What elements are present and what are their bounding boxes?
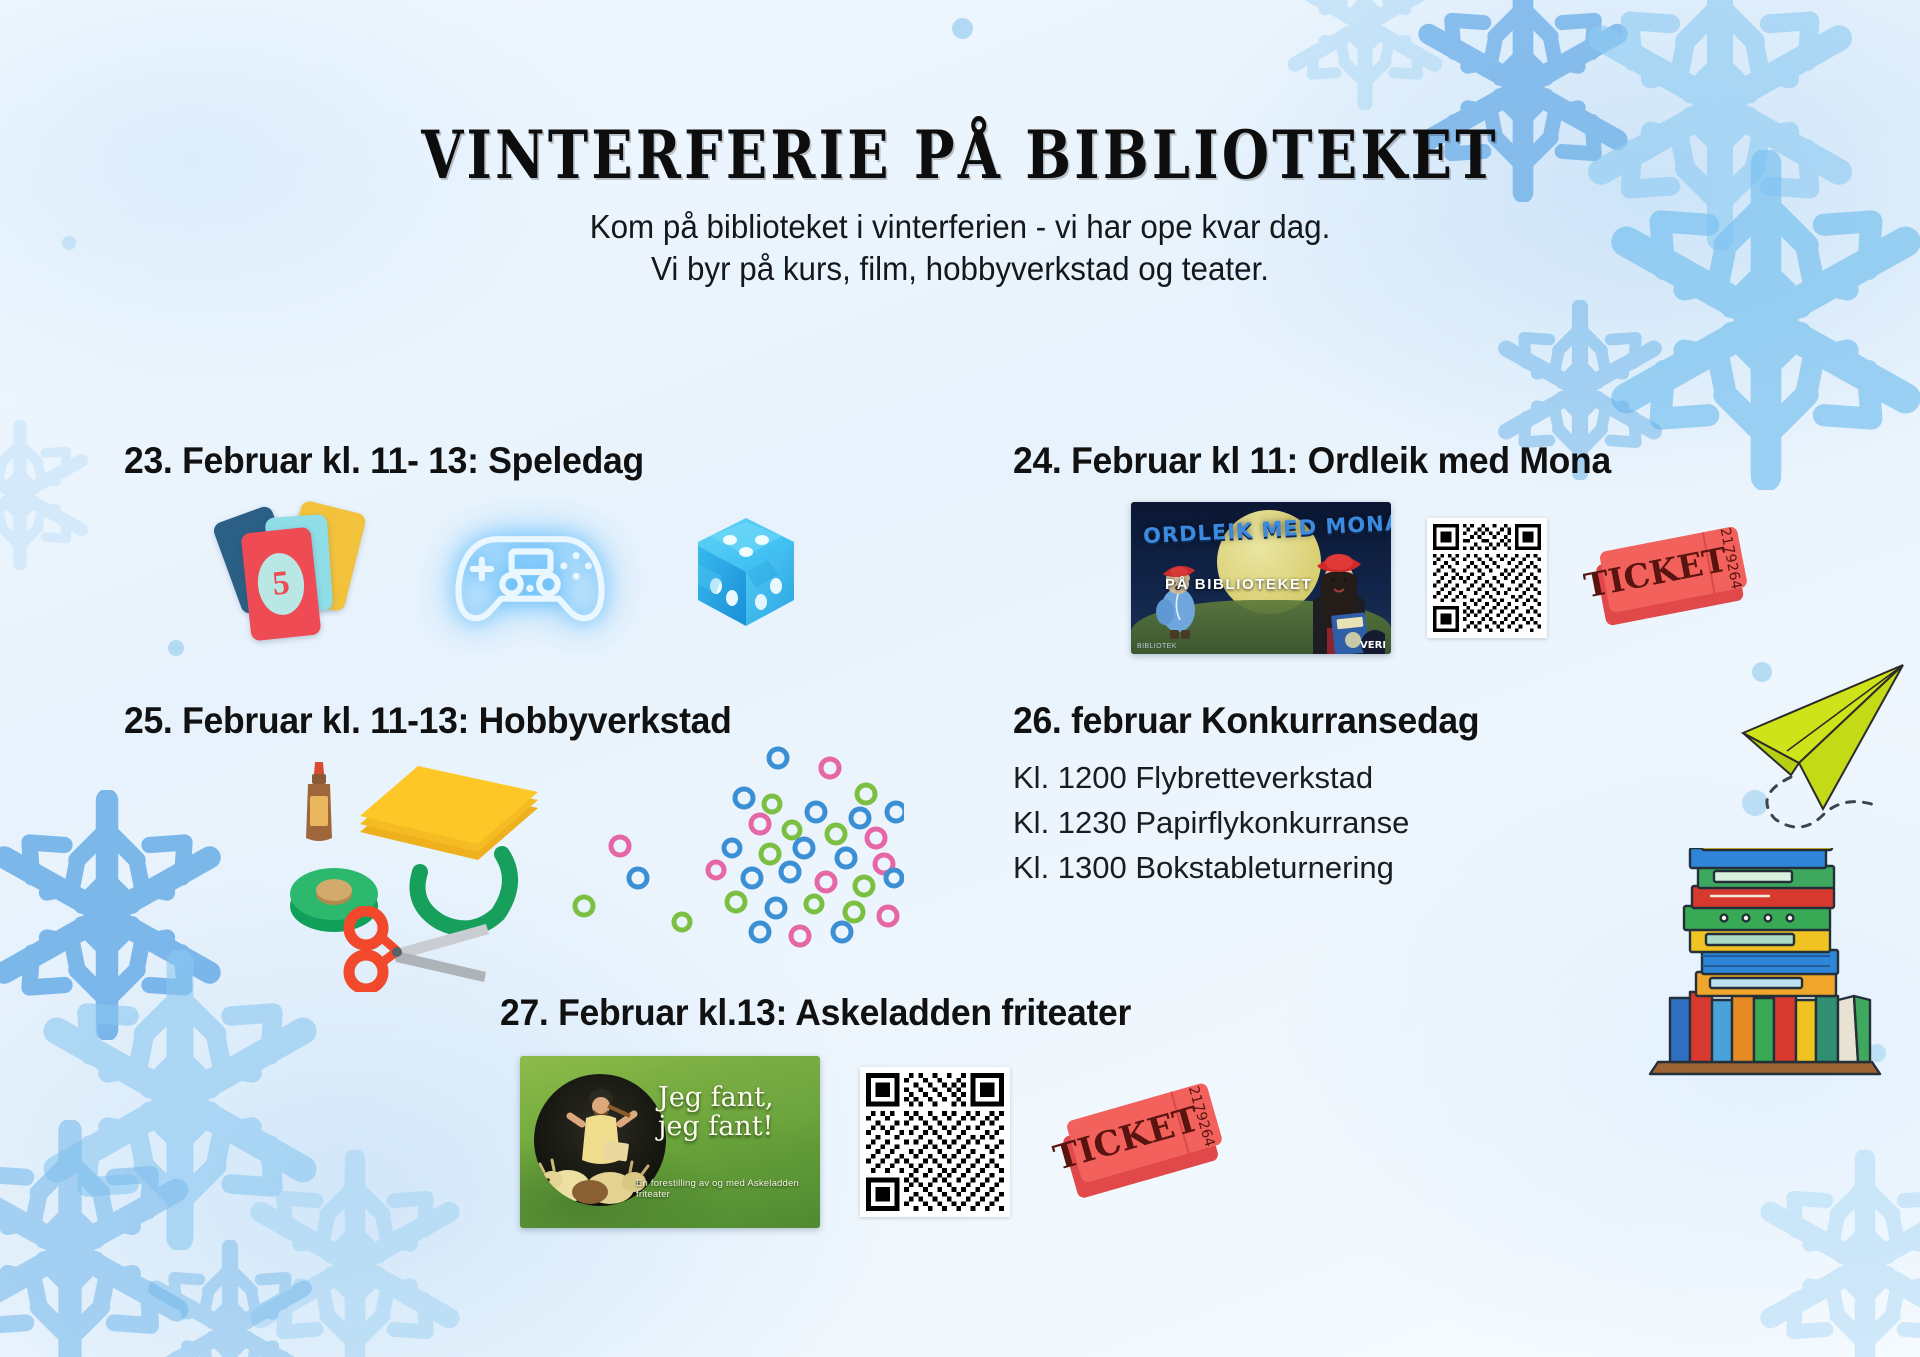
snowflake-icon (0, 420, 95, 570)
snowflake-icon (1280, 0, 1450, 110)
event-konkurransedag: 26. februar Konkurransedag Kl. 1200 Flyb… (1013, 700, 1499, 891)
event-friteater-heading: 27. Februar kl.13: Askeladden friteater (500, 992, 1210, 1034)
event-speledag-heading: 23. Februar kl. 11- 13: Speledag (124, 440, 779, 482)
konkurransedag-schedule: Kl. 1200 Flybretteverkstad Kl. 1230 Papi… (1013, 756, 1499, 891)
schedule-line: Kl. 1300 Bokstableturnering (1013, 846, 1499, 891)
ordleik-promo-logo: BIBLIOTEK (1137, 643, 1177, 650)
playing-cards-icon: 5 (224, 506, 374, 638)
friteater-media-row: Jeg fant, jeg fant! En forestilling av o… (520, 1056, 1240, 1228)
dice-icon (686, 512, 806, 632)
snowflake-icon (140, 1240, 320, 1357)
schedule-line: Kl. 1200 Flybretteverkstad (1013, 756, 1499, 801)
promo-title-line-1: Jeg fant, (658, 1084, 808, 1113)
bear-character-icon (1151, 554, 1205, 640)
qr-code-icon[interactable] (860, 1067, 1010, 1217)
page-title: VINTERFERIE PÅ BIBLIOTEKET (173, 122, 1747, 188)
event-hobbyverkstad: 25. Februar kl. 11-13: Hobbyverkstad (124, 700, 914, 971)
event-ordleik-heading: 24. Februar kl 11: Ordleik med Mona (1013, 440, 1731, 482)
event-friteater: 27. Februar kl.13: Askeladden friteater (500, 992, 1240, 1228)
qr-code-icon[interactable] (1427, 518, 1547, 638)
snowflake-icon (240, 1150, 470, 1357)
paper-plane-icon (1735, 655, 1920, 830)
friteater-promo-title: Jeg fant, jeg fant! (658, 1084, 808, 1141)
svg-text:VERB: VERB (1360, 640, 1385, 651)
speledag-icon-row: 5 (224, 506, 806, 638)
subtitle-line-1: Kom på biblioteket i vinterferien - vi h… (48, 206, 1872, 248)
ticket-icon: TICKET 2179264 (1583, 515, 1761, 641)
glue-bottle-icon (298, 762, 340, 846)
event-ordleik: 24. Februar kl 11: Ordleik med Mona (1013, 440, 1761, 654)
poster-subtitle: Kom på biblioteket i vinterferien - vi h… (0, 206, 1920, 290)
snowflake-icon (0, 1120, 200, 1357)
poster-header: VINTERFERIE PÅ BIBLIOTEKET Kom på biblio… (0, 122, 1920, 290)
poster-canvas: VINTERFERIE PÅ BIBLIOTEKET Kom på biblio… (0, 0, 1920, 1357)
snowflake-icon (30, 950, 330, 1250)
ordleik-promo-image: VERB ORDLEIK MED MONA PÅ BIBLIOTEKET BIB… (1131, 502, 1391, 654)
beads-icon (564, 746, 904, 966)
decorative-dot (952, 18, 973, 39)
scissors-icon (340, 906, 490, 992)
event-speledag: 23. Februar kl. 11- 13: Speledag 5 (124, 440, 806, 638)
schedule-line: Kl. 1230 Papirflykonkurranse (1013, 801, 1499, 846)
decorative-dot (168, 640, 184, 656)
snowflake-icon (1750, 1150, 1920, 1357)
ordleik-promo-subtitle: PÅ BIBLIOTEKET (1165, 576, 1312, 593)
game-controller-icon (448, 516, 612, 628)
book-stack-icon (1640, 848, 1890, 1078)
event-hobbyverkstad-heading: 25. Februar kl. 11-13: Hobbyverkstad (124, 700, 882, 742)
ticket-icon: TICKET 2179264 (1050, 1067, 1240, 1217)
friteater-promo-credit: En forestilling av og med Askeladden fri… (636, 1178, 808, 1200)
mona-character-icon: VERB (1293, 536, 1385, 654)
hobby-supplies-art (274, 756, 914, 971)
ordleik-media-row: VERB ORDLEIK MED MONA PÅ BIBLIOTEKET BIB… (1131, 502, 1761, 654)
event-konkurransedag-heading: 26. februar Konkurransedag (1013, 700, 1479, 742)
subtitle-line-2: Vi byr på kurs, film, hobbyverkstad og t… (48, 248, 1872, 290)
promo-title-line-2: jeg fant! (658, 1113, 808, 1142)
friteater-promo-image: Jeg fant, jeg fant! En forestilling av o… (520, 1056, 820, 1228)
card-number: 5 (255, 551, 307, 617)
